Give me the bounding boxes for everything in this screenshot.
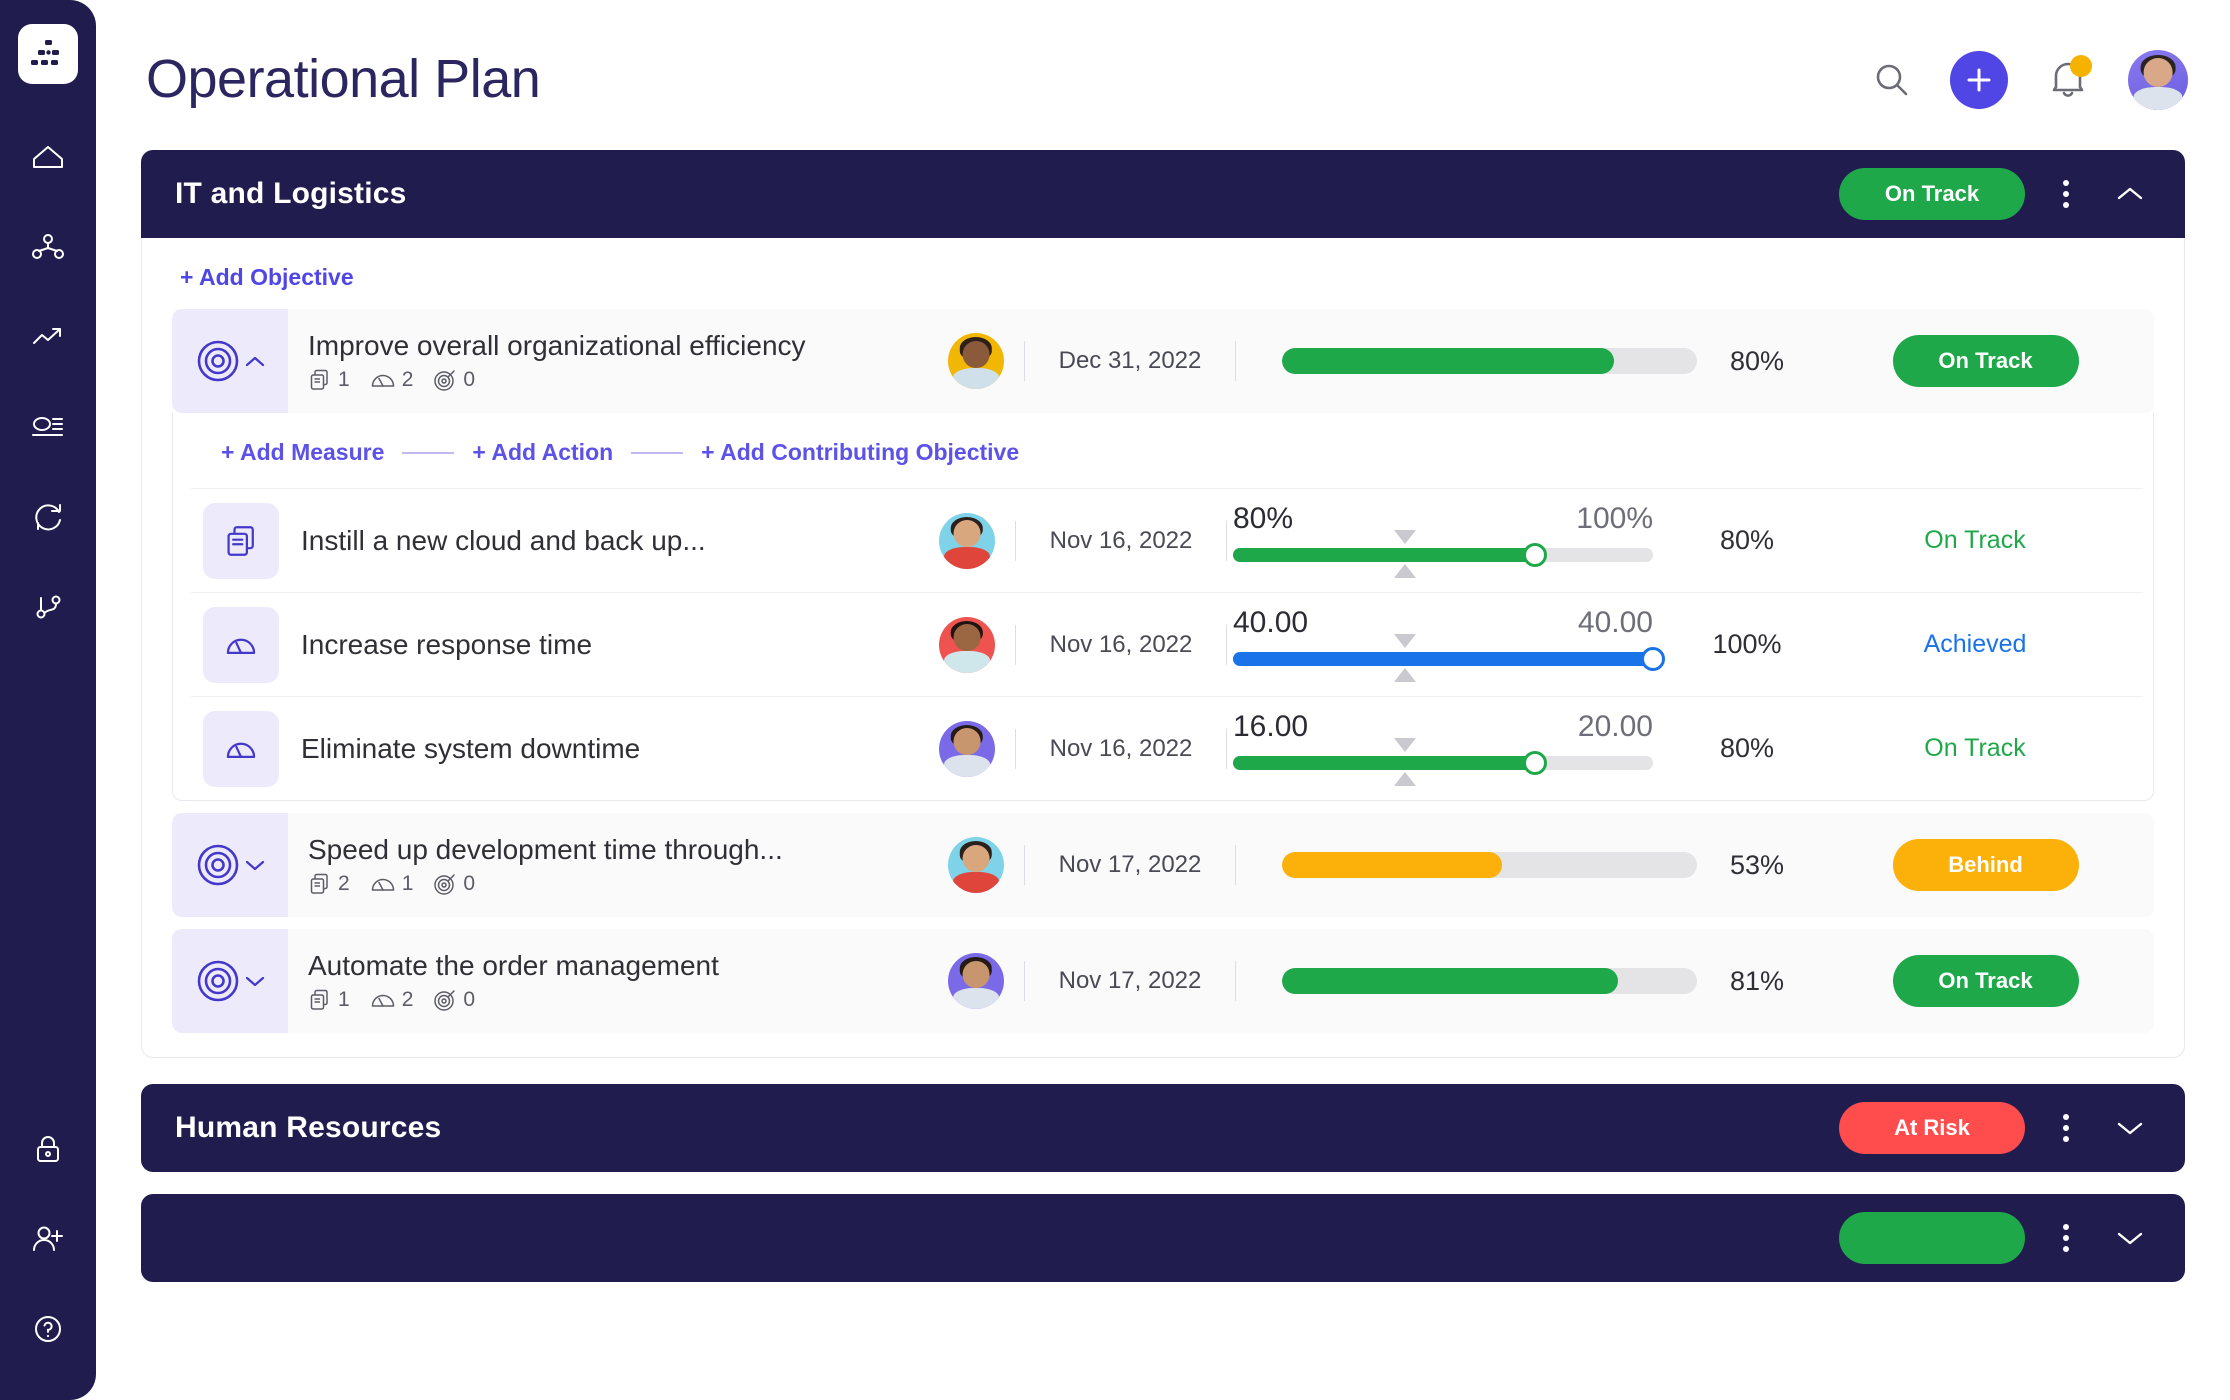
objective-title: Speed up development time through... [308,834,928,866]
avatar-face [2128,50,2188,110]
chevron-down-icon[interactable] [2103,1101,2157,1155]
slider-fill [1233,652,1653,666]
objective-toggle[interactable] [172,813,288,917]
objective-owner[interactable] [928,929,1024,1033]
section-menu-icon[interactable] [2039,1101,2093,1155]
avatar [939,617,995,673]
objective-counts: 1 2 0 [308,988,928,1012]
action-icon [308,872,332,896]
measure-icon [370,872,396,896]
avatar [948,953,1004,1009]
objective-date: Nov 17, 2022 [1025,813,1235,917]
progress-fill [1282,968,1618,994]
measure-count-value: 2 [402,988,414,1012]
target-icon [195,338,241,384]
target-icon [195,958,241,1004]
section-header[interactable] [141,1194,2185,1282]
measure-date: Nov 16, 2022 [1016,593,1226,696]
slider-target-marker-bottom [1394,772,1416,786]
slider-track[interactable] [1233,548,1653,562]
slider-target-marker-top [1394,530,1416,544]
objective-progress-label: 53% [1697,813,1817,917]
measure-date: Nov 16, 2022 [1016,697,1226,800]
target-icon [433,872,457,896]
header-actions [1872,50,2188,110]
chevron-down-icon [245,859,265,872]
measure-icon [370,988,396,1012]
avatar [939,721,995,777]
slider-knob[interactable] [1523,543,1547,567]
sidebar-item-invite[interactable] [0,1194,96,1284]
measure-slider[interactable]: 40.00 40.00 [1227,593,1687,696]
notification-dot [2070,55,2092,77]
slider-values: 40.00 40.00 [1233,606,1653,640]
slider-target-marker-bottom [1394,668,1416,682]
action-count-value: 1 [338,368,350,392]
add-objective-link[interactable]: + Add Objective [142,238,354,309]
slider-target-marker-bottom [1394,564,1416,578]
slider-target-value: 40.00 [1578,606,1653,640]
slider-track[interactable] [1233,652,1653,666]
measure-date: Nov 16, 2022 [1016,489,1226,592]
objective-info: Automate the order management 1 [288,929,928,1033]
measure-icon[interactable] [203,711,279,787]
status-badge[interactable]: Behind [1893,839,2079,891]
objective-date: Dec 31, 2022 [1025,309,1235,413]
measure-progress-label: 80% [1687,697,1807,800]
objective-status: On Track [1817,309,2154,413]
slider-fill [1233,756,1535,770]
measure-icon [370,368,396,392]
measure-icon[interactable] [203,607,279,683]
section-next [141,1194,2185,1282]
slider-current-value: 40.00 [1233,606,1308,640]
sub-objective-count-value: 0 [463,368,475,392]
chevron-down-icon[interactable] [2103,1211,2157,1265]
measure-status: On Track [1807,489,2143,592]
action-count-value: 2 [338,872,350,896]
objective-toggle[interactable] [172,929,288,1033]
measures-panel: + Add Measure + Add Action + Add Contrib… [172,413,2154,801]
measure-progress-label: 100% [1687,593,1807,696]
slider-knob[interactable] [1641,647,1665,671]
objective-progress [1236,813,1697,917]
status-badge[interactable]: On Track [1893,955,2079,1007]
section-human-resources: Human Resources At Risk [141,1084,2185,1172]
add-measure-link[interactable]: + Add Measure [221,439,384,466]
objective-progress [1236,929,1697,1033]
slider-target-value: 100% [1576,502,1653,536]
section-title: Human Resources [175,1111,441,1145]
action-icon[interactable] [203,503,279,579]
section-body: + Add Objective Improve overall organiza… [141,238,2185,1058]
objective-progress-label: 80% [1697,309,1817,413]
section-status-badge[interactable] [1839,1212,2025,1264]
action-icon [308,368,332,392]
sidebar-item-org[interactable] [0,202,96,292]
slider-fill [1233,548,1535,562]
section-status-badge[interactable]: At Risk [1839,1102,2025,1154]
divider [402,452,454,454]
search-icon[interactable] [1872,60,1912,100]
slider-current-value: 16.00 [1233,710,1308,744]
objective-toggle[interactable] [172,309,288,413]
section-it-logistics: IT and Logistics On Track + Add Objectiv… [141,150,2185,1058]
add-action-link[interactable]: + Add Action [472,439,613,466]
target-icon [195,842,241,888]
user-avatar[interactable] [2128,50,2188,110]
measure-count: 2 [370,988,414,1012]
sub-objective-count-value: 0 [463,988,475,1012]
section-header[interactable]: IT and Logistics On Track [141,150,2185,238]
progress-fill [1282,852,1502,878]
measure-owner[interactable] [919,593,1015,696]
chevron-up-icon[interactable] [2103,167,2157,221]
measure-count: 2 [370,368,414,392]
app-logo[interactable] [18,24,78,84]
objective-row[interactable]: Speed up development time through... 2 [172,813,2154,917]
sub-objective-count: 0 [433,872,475,896]
slider-target-marker-top [1394,634,1416,648]
objective-counts: 1 2 [308,368,928,392]
objective-date: Nov 17, 2022 [1025,929,1235,1033]
sidebar-item-performance[interactable] [0,292,96,382]
objective-owner[interactable] [928,309,1024,413]
sidebar-item-help[interactable] [0,1284,96,1374]
slider-current-value: 80% [1233,502,1293,536]
progress-track [1282,852,1697,878]
action-icon [308,988,332,1012]
objective-row[interactable]: Automate the order management 1 [172,929,2154,1033]
action-count: 1 [308,368,350,392]
measure-title: Eliminate system downtime [279,697,919,800]
measure-owner[interactable] [919,489,1015,592]
objective-progress-label: 81% [1697,929,1817,1033]
objective-row[interactable]: Improve overall organizational efficienc… [172,309,2154,413]
sidebar [0,0,96,1400]
page-header: Operational Plan [96,0,2230,150]
measure-title: Increase response time [279,593,919,696]
slider-values: 80% 100% [1233,502,1653,536]
objective-counts: 2 1 0 [308,872,928,896]
objective-progress [1236,309,1697,413]
target-icon [433,988,457,1012]
bell-icon[interactable] [2046,56,2090,104]
objective-owner[interactable] [928,813,1024,917]
measure-title: Instill a new cloud and back up... [279,489,919,592]
chevron-up-icon [245,355,265,368]
objective-info: Improve overall organizational efficienc… [288,309,928,413]
status-badge[interactable]: On Track [1893,335,2079,387]
add-button[interactable] [1950,51,2008,109]
objective-info: Speed up development time through... 2 [288,813,928,917]
main-content: Operational Plan [96,0,2230,1400]
measure-count-value: 1 [402,872,414,896]
measure-progress-label: 80% [1687,489,1807,592]
section-menu-icon[interactable] [2039,1211,2093,1265]
sub-objective-count: 0 [433,368,475,392]
progress-track [1282,348,1697,374]
progress-fill [1282,348,1614,374]
sidebar-item-home[interactable] [0,112,96,202]
measure-add-links: + Add Measure + Add Action + Add Contrib… [173,413,2153,488]
chevron-down-icon [245,975,265,988]
avatar [948,333,1004,389]
sub-objective-count: 0 [433,988,475,1012]
measure-status: Achieved [1807,593,2143,696]
sidebar-item-sync[interactable] [0,472,96,562]
slider-target-value: 20.00 [1578,710,1653,744]
progress-track [1282,968,1697,994]
divider [631,452,683,454]
objective-title: Improve overall organizational efficienc… [308,330,928,362]
objective-title: Automate the order management [308,950,928,982]
section-menu-icon[interactable] [2039,167,2093,221]
slider-track[interactable] [1233,756,1653,770]
measure-owner[interactable] [919,697,1015,800]
measure-row[interactable]: Instill a new cloud and back up... Nov 1… [191,488,2143,592]
sidebar-item-reports[interactable] [0,382,96,472]
measure-row[interactable]: Eliminate system downtime Nov 16, 2022 [191,696,2143,800]
measure-count-value: 2 [402,368,414,392]
measure-slider[interactable]: 80% 100% [1227,489,1687,592]
objective-status: Behind [1817,813,2154,917]
target-icon [433,368,457,392]
action-count: 1 [308,988,350,1012]
slider-knob[interactable] [1523,751,1547,775]
measure-slider[interactable]: 16.00 20.00 [1227,697,1687,800]
objective-status: On Track [1817,929,2154,1033]
page-title: Operational Plan [146,48,540,110]
slider-target-marker-top [1394,738,1416,752]
measure-row[interactable]: Increase response time Nov 16, 2022 [191,592,2143,696]
action-count: 2 [308,872,350,896]
sidebar-item-workflow[interactable] [0,562,96,652]
section-status-badge[interactable]: On Track [1839,168,2025,220]
slider-values: 16.00 20.00 [1233,710,1653,744]
action-count-value: 1 [338,988,350,1012]
sidebar-item-security[interactable] [0,1104,96,1194]
sub-objective-count-value: 0 [463,872,475,896]
section-header[interactable]: Human Resources At Risk [141,1084,2185,1172]
add-contributing-objective-link[interactable]: + Add Contributing Objective [701,439,1019,466]
avatar [948,837,1004,893]
section-title: IT and Logistics [175,177,407,211]
measure-status: On Track [1807,697,2143,800]
avatar [939,513,995,569]
measure-count: 1 [370,872,414,896]
